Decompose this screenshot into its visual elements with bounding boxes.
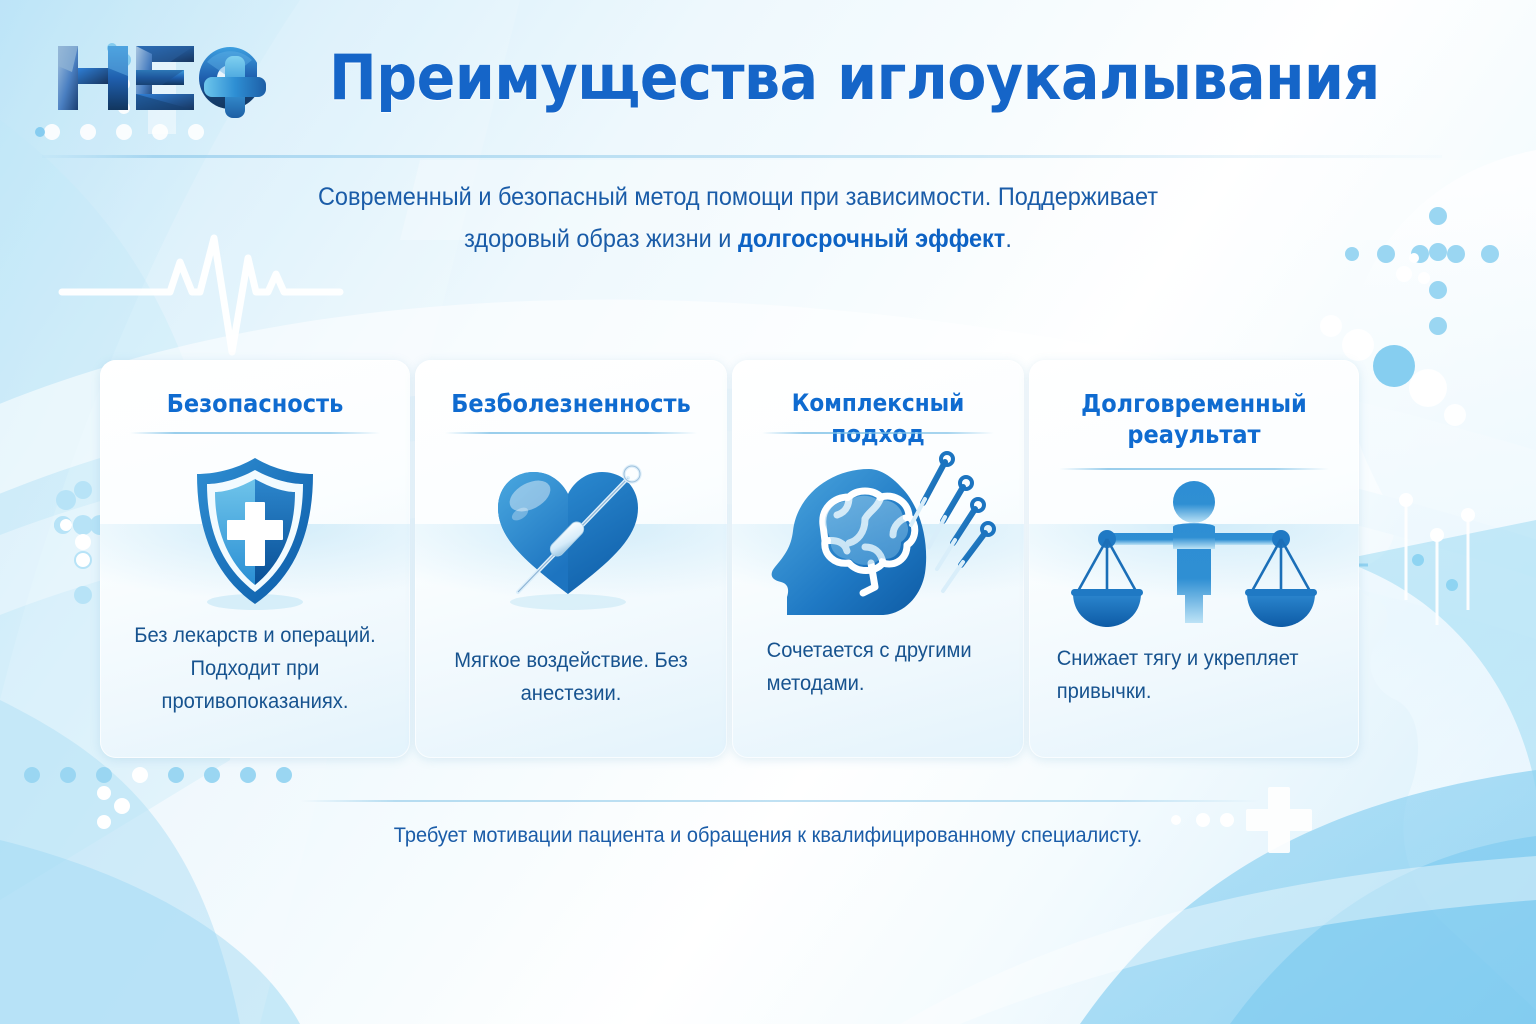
footer-note: Требует мотивации пациента и обращения к…: [38, 824, 1497, 848]
subtitle-line-1: Современный и безопасный метод помощи пр…: [318, 183, 1158, 211]
neo-plus-logo[interactable]: [52, 32, 257, 124]
logo-plus-icon: [200, 52, 270, 122]
subtitle-highlight: долгосрочный эффект: [738, 225, 1005, 253]
card-description: Снижает тягу и укрепляет привычки.: [1036, 642, 1353, 708]
card-complex-approach[interactable]: Комплексный подход: [732, 360, 1024, 758]
card-safety[interactable]: Безопасность: [100, 360, 410, 758]
card-divider: [762, 432, 994, 434]
subtitle-line-2-suffix: .: [1005, 225, 1012, 253]
card-painless[interactable]: Безболезненность: [415, 360, 727, 758]
card-title: Безболезненность: [431, 388, 712, 419]
card-divider: [130, 432, 380, 434]
dot-row-bottom-left: [24, 767, 292, 783]
page-title: Преимущества иглоукалывания: [329, 41, 1380, 114]
needle-marks-right-dots: [1399, 493, 1475, 542]
dot-cross-top-right-white: [1396, 253, 1430, 284]
person-scales-icon: [1029, 472, 1359, 632]
footer-divider: [300, 800, 1260, 802]
card-description: Мягкое воздействие. Без анестезии.: [421, 644, 721, 710]
head-brain-needles-icon: [732, 442, 1024, 622]
needle-mark-blue-dot: [1412, 554, 1458, 591]
subtitle: Современный и безопасный метод помощи пр…: [296, 176, 1180, 260]
subtitle-line-2-prefix: здоровый образ жизни и: [464, 225, 738, 253]
infographic-canvas: Преимущества иглоукалывания Современный …: [0, 0, 1536, 1024]
card-divider: [445, 432, 697, 434]
header-divider: [42, 155, 1442, 158]
card-title: Долговременный реаультат: [1046, 388, 1343, 450]
needle-marks-right: [1406, 505, 1468, 625]
card-long-term-result[interactable]: Долговременный реаультат: [1029, 360, 1359, 758]
card-description: Без лекарств и операций. Подходит при пр…: [106, 619, 404, 718]
heart-needle-icon: [415, 442, 727, 622]
card-title: Безопасность: [116, 388, 395, 419]
dot-row-bottom-left-white: [97, 767, 148, 829]
card-divider: [1059, 468, 1329, 470]
logo-letter-e: [136, 46, 194, 110]
page-header: Преимущества иглоукалывания: [0, 0, 1536, 155]
card-description: Сочетается с другими методами.: [738, 634, 1018, 700]
benefit-cards: Безопасность: [100, 360, 1390, 758]
shield-cross-icon: [100, 442, 410, 622]
logo-letter-n: [58, 46, 128, 110]
dot-cross-left-cluster-white: [60, 519, 91, 567]
card-title: Комплексный подход: [747, 388, 1010, 450]
dot-cross-top-right: [1345, 207, 1499, 335]
